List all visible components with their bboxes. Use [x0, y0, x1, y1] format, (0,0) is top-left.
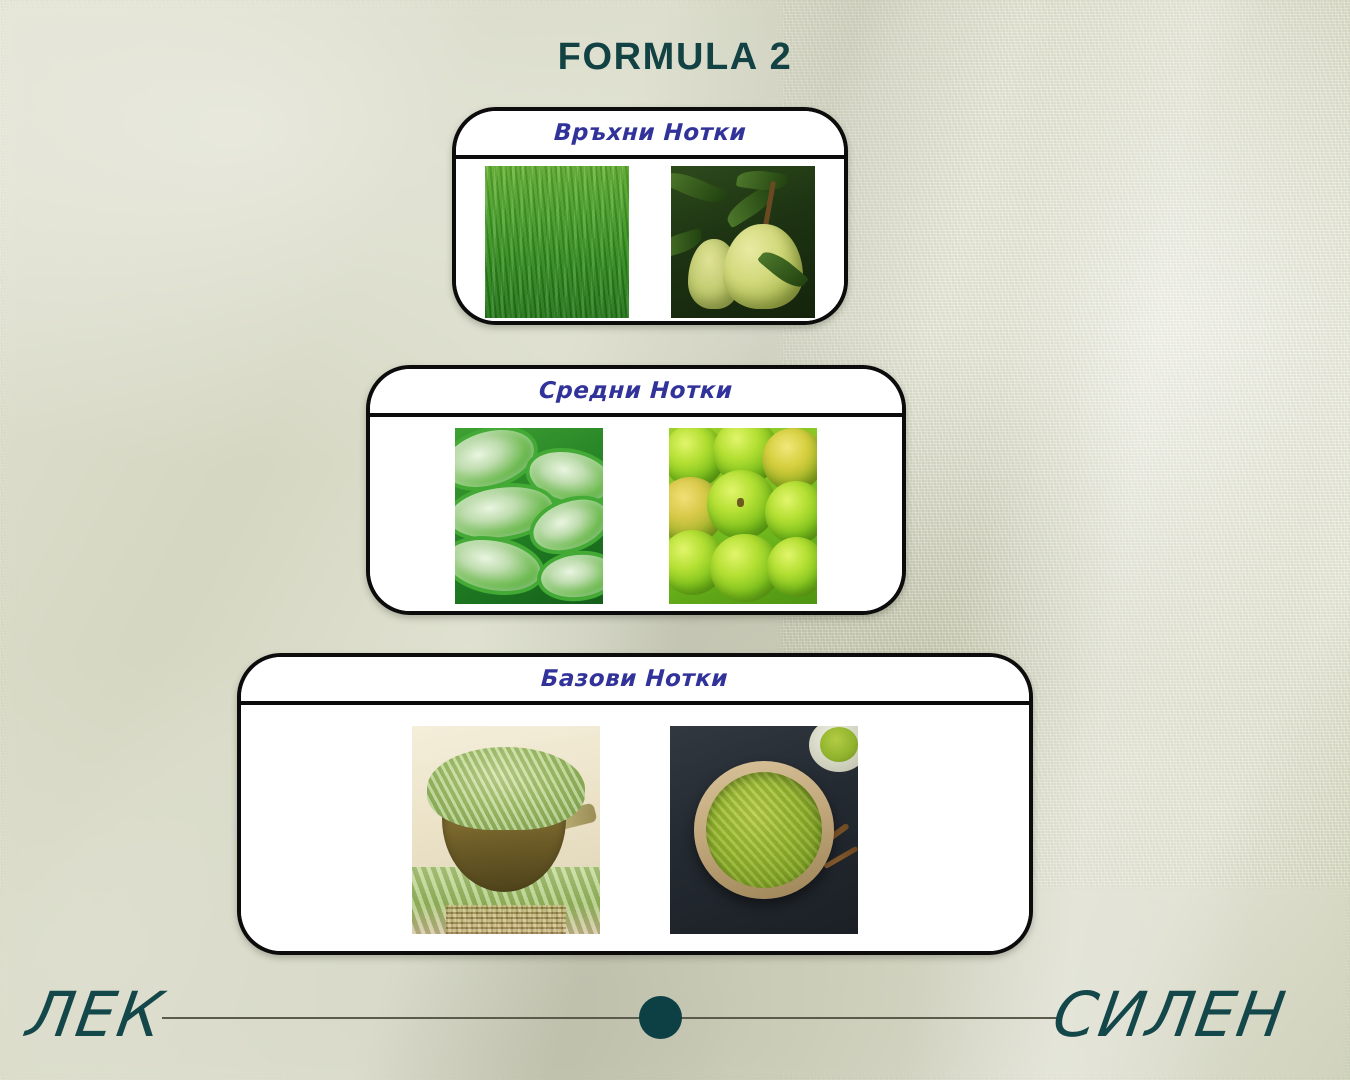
top-notes-card-header: Връхни Нотки — [456, 111, 844, 159]
base-notes-card-body — [241, 705, 1029, 955]
middle-notes-card-header: Средни Нотки — [370, 369, 902, 417]
slide-canvas: FORMULA 2 Връхни Нотки Средни Нотки — [0, 0, 1350, 1080]
intensity-scale-right-label: СИЛЕН — [1048, 978, 1292, 1051]
intensity-scale-left-label: ЛЕК — [22, 978, 169, 1051]
aloe-vera-slices-image — [455, 428, 603, 604]
top-notes-card-title: Връхни Нотки — [553, 120, 747, 146]
middle-notes-card[interactable]: Средни Нотки — [366, 365, 906, 615]
top-notes-card[interactable]: Връхни Нотки — [452, 107, 848, 325]
base-notes-card-title: Базови Нотки — [541, 666, 729, 692]
slide-title: FORMULA 2 — [0, 36, 1350, 79]
apple-stem-shape — [737, 498, 744, 507]
cardamom-pods-image — [412, 726, 600, 934]
burlap-cloth-shape — [446, 905, 566, 934]
matcha-powder-shape — [706, 772, 823, 887]
wooden-bowl-shape — [694, 761, 833, 898]
base-notes-card[interactable]: Базови Нотки — [237, 653, 1033, 955]
small-bowl-shape — [809, 726, 858, 772]
aloe-slice-shape — [455, 533, 544, 598]
pear-on-branch-image — [671, 166, 815, 318]
base-notes-card-header: Базови Нотки — [241, 657, 1029, 705]
cardamom-pile-shape — [427, 747, 585, 830]
aloe-slice-shape — [455, 428, 540, 496]
intensity-scale-track[interactable] — [162, 1017, 1060, 1019]
green-apples-image — [669, 428, 817, 604]
middle-notes-card-title: Средни Нотки — [538, 378, 733, 404]
intensity-scale-marker[interactable] — [639, 996, 682, 1039]
apple-shape — [767, 537, 817, 597]
aloe-slice-shape — [539, 551, 603, 601]
matcha-powder-image — [670, 726, 858, 934]
apple-shape — [765, 481, 817, 544]
grass-field-image — [485, 166, 629, 318]
leaf-shape — [671, 166, 727, 209]
top-notes-card-body — [456, 159, 844, 325]
leaf-shape — [736, 167, 788, 193]
middle-notes-card-body — [370, 417, 902, 615]
